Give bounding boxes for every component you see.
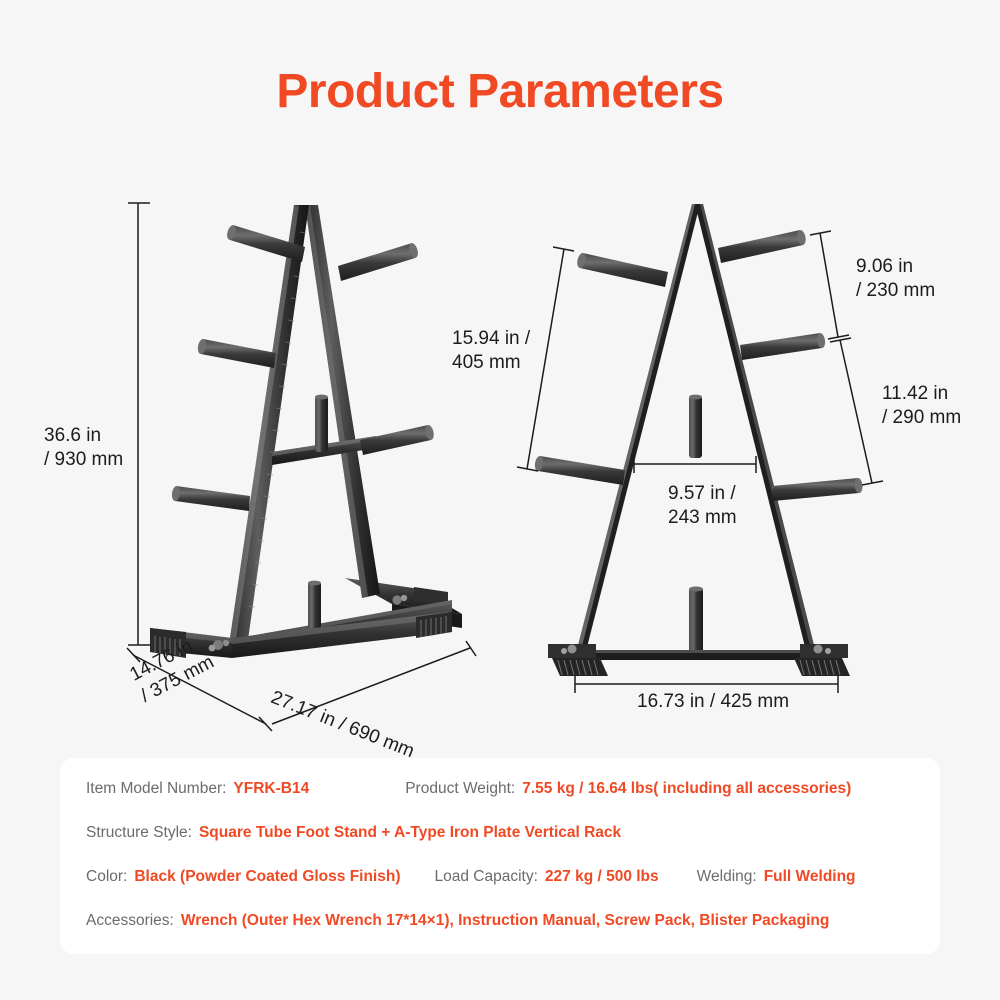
center-peg-upper [315, 395, 328, 452]
dimline-mid-right [830, 338, 883, 485]
dimension-label-base-width: 16.73 in / 425 mm [637, 690, 789, 714]
frame-leg-front [230, 205, 309, 640]
front-center-peg-lower [689, 587, 703, 655]
spec-value-welding: Full Welding [764, 868, 856, 886]
spec-label-load-capacity: Load Capacity: [435, 868, 538, 886]
dimension-label-mid-spacing: 11.42 in / 290 mm [882, 382, 961, 431]
spec-row-2: Structure Style: Square Tube Foot Stand … [86, 824, 914, 868]
dimension-label-height: 36.6 in / 930 mm [44, 424, 123, 473]
peg-left-bottom [171, 485, 250, 511]
dimline-top-right [810, 231, 849, 339]
specifications-card: Item Model Number: YFRK-B14 Product Weig… [60, 758, 940, 954]
right-front-view [534, 204, 863, 676]
spec-row-1: Item Model Number: YFRK-B14 Product Weig… [86, 780, 914, 824]
dimension-label-inner-width: 9.57 in / 243 mm [668, 482, 737, 531]
spec-row-4: Accessories: Wrench (Outer Hex Wrench 17… [86, 912, 914, 956]
front-peg-left-bottom [534, 455, 625, 485]
spec-label-structure-style: Structure Style: [86, 824, 192, 842]
front-leg-right [695, 204, 816, 655]
product-parameters-page: Product Parameters [0, 0, 1000, 1000]
spec-row-3: Color: Black (Powder Coated Gloss Finish… [86, 868, 914, 912]
dimline-inner-width [634, 456, 756, 473]
spec-label-item-model-number: Item Model Number: [86, 780, 226, 798]
front-peg-right-mid [740, 332, 826, 360]
front-peg-right-bottom [772, 478, 863, 501]
spec-label-welding: Welding: [697, 868, 757, 886]
front-peg-left-top [576, 252, 668, 287]
center-peg-lower [308, 581, 321, 632]
spec-value-color: Black (Powder Coated Gloss Finish) [134, 868, 400, 886]
front-foot-right [794, 644, 850, 676]
dimline-height [128, 203, 150, 645]
peg-right-top [338, 242, 420, 281]
dimension-label-top-spacing: 9.06 in / 230 mm [856, 255, 935, 304]
peg-left-mid [197, 338, 276, 368]
spec-value-product-weight: 7.55 kg / 16.64 lbs( including all acces… [522, 780, 851, 798]
spec-value-structure-style: Square Tube Foot Stand + A-Type Iron Pla… [199, 824, 621, 842]
spec-label-accessories: Accessories: [86, 912, 174, 930]
front-center-peg-upper [689, 395, 702, 458]
peg-right-mid [360, 424, 435, 455]
front-peg-right-top [718, 229, 807, 263]
front-foot-left [548, 644, 608, 676]
product-figures: 36.6 in / 930 mm 14.76 in / 375 mm 27.17… [0, 0, 1000, 760]
product-diagram-svg [0, 0, 1000, 760]
spec-value-load-capacity: 227 kg / 500 lbs [545, 868, 659, 886]
spec-label-color: Color: [86, 868, 127, 886]
spec-label-product-weight: Product Weight: [405, 780, 515, 798]
left-perspective-view [150, 205, 462, 658]
dimension-label-slant: 15.94 in / 405 mm [452, 327, 530, 376]
spec-value-item-model-number: YFRK-B14 [233, 780, 309, 798]
spec-value-accessories: Wrench (Outer Hex Wrench 17*14×1), Instr… [181, 912, 830, 930]
